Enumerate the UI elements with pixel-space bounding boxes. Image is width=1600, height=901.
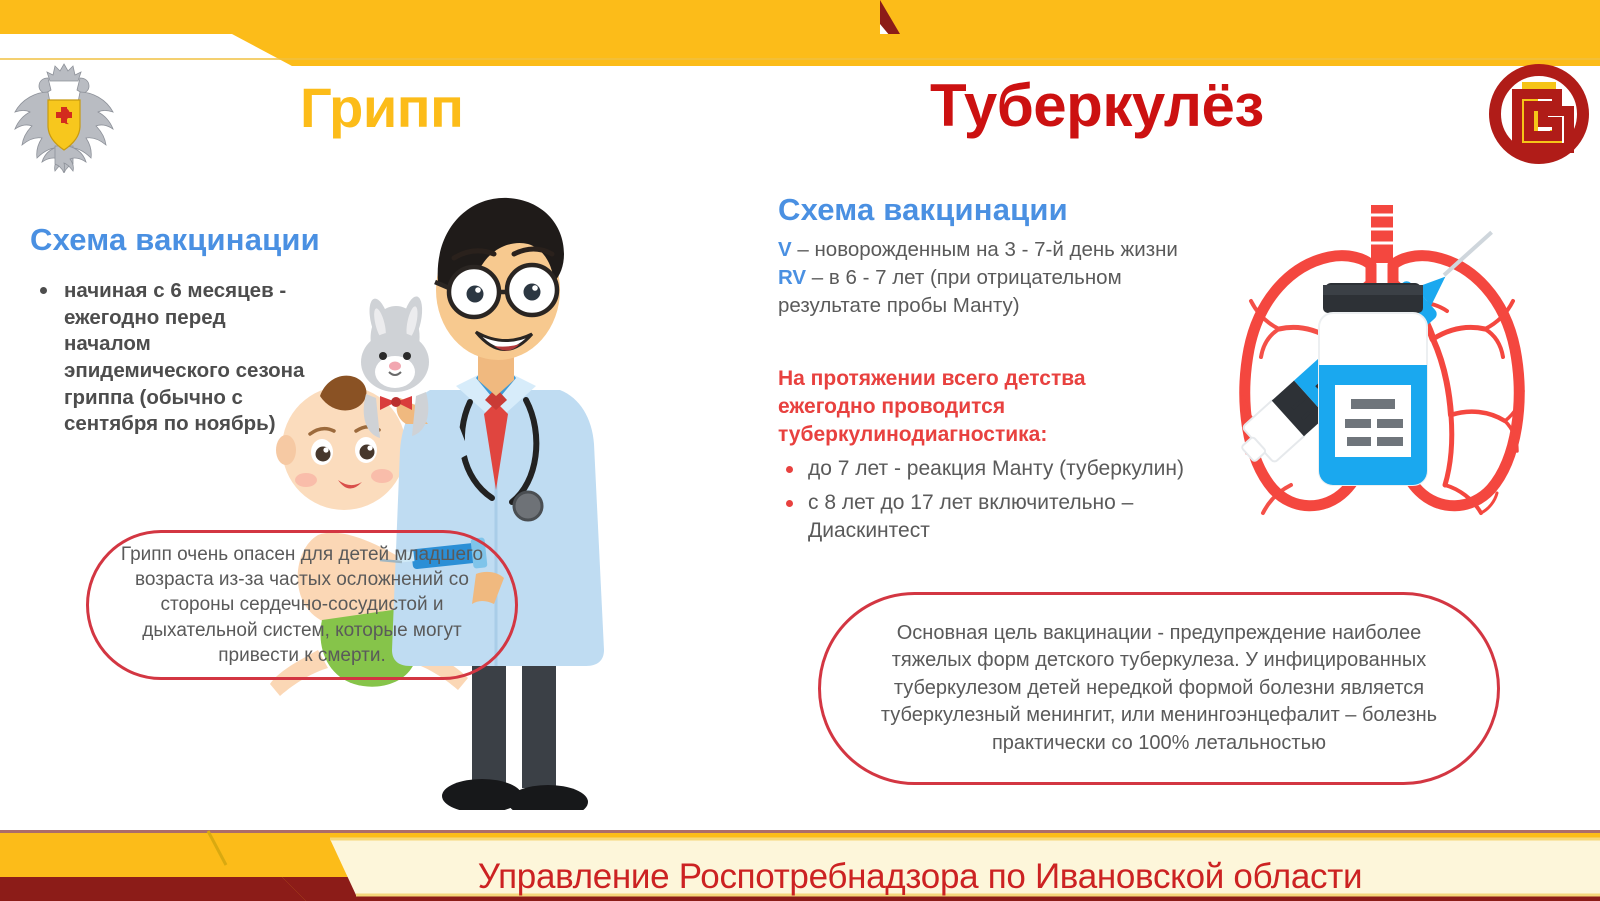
left-callout-text: Грипп очень опасен для детей младшего во…	[111, 542, 493, 667]
top-hairline	[0, 58, 1600, 60]
list-item-label: до 7 лет - реакция Манту (туберкулин)	[808, 457, 1184, 480]
lungs-syringe-vial-illustration	[1175, 185, 1595, 575]
scheme-line-v: V – новорожденным на 3 - 7-й день жизни	[778, 236, 1208, 264]
page-title-tuberculosis: Туберкулёз	[930, 76, 1450, 136]
tb-scheme-lines: V – новорожденным на 3 - 7-й день жизни …	[778, 236, 1208, 320]
doctor-figure	[361, 198, 604, 810]
scheme-text-rv: – в 6 - 7 лет (при отрицательном результ…	[778, 266, 1122, 317]
scheme-line-rv: RV – в 6 - 7 лет (при отрицательном резу…	[778, 264, 1198, 320]
page-title-flu: Грипп	[300, 80, 620, 136]
tb-red-heading: На протяжении всего детства ежегодно про…	[778, 365, 1178, 449]
cgie-circle-logo-icon	[1484, 58, 1594, 170]
infographic-slide: Грипп Туберкулёз Схема вакцинации начина…	[0, 0, 1600, 901]
right-callout-text: Основная цель вакцинации - предупреждени…	[861, 620, 1457, 758]
scheme-code-v: V	[778, 238, 792, 261]
bullet-dot-icon	[786, 500, 793, 507]
right-subheading-vaccination-scheme: Схема вакцинации	[778, 192, 1068, 228]
footer-organization-label: Управление Роспотребнадзора по Ивановско…	[0, 857, 1600, 897]
bullet-dot-icon	[40, 287, 47, 294]
top-decoration-band	[0, 0, 1600, 70]
list-item-label: с 8 лет до 17 лет включительно – Диаскин…	[808, 491, 1133, 542]
left-callout-bubble: Грипп очень опасен для детей младшего во…	[86, 530, 518, 680]
doctor-vaccinating-baby-illustration	[260, 150, 680, 810]
list-item: с 8 лет до 17 лет включительно – Диаскин…	[778, 489, 1198, 545]
scheme-code-rv: RV	[778, 266, 806, 289]
vaccine-vial-icon	[1319, 283, 1427, 485]
top-banner-shapes	[0, 0, 1600, 70]
footer-banner: Управление Роспотребнадзора по Ивановско…	[0, 791, 1600, 901]
list-item: до 7 лет - реакция Манту (туберкулин)	[778, 455, 1198, 483]
right-callout-bubble: Основная цель вакцинации - предупреждени…	[818, 592, 1500, 785]
right-bullet-list: до 7 лет - реакция Манту (туберкулин) с …	[778, 455, 1198, 551]
rospotrebnadzor-coat-of-arms-icon	[8, 58, 120, 173]
bullet-dot-icon	[786, 466, 793, 473]
scheme-text-v: – новорожденным на 3 - 7-й день жизни	[792, 238, 1178, 261]
